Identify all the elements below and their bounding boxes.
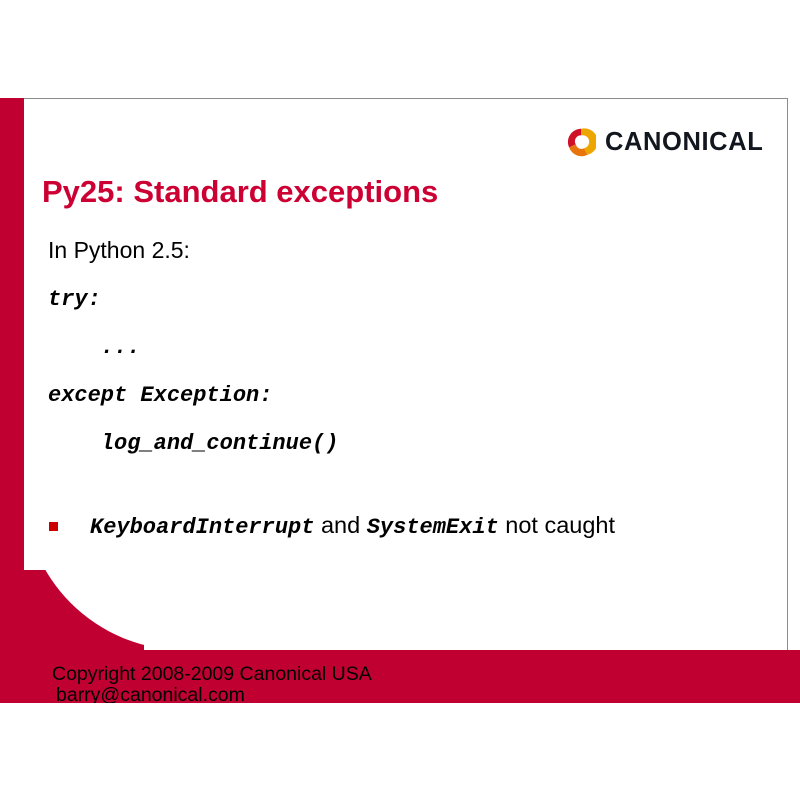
list-item: KeyboardInterrupt and SystemExit not cau… bbox=[48, 509, 748, 543]
canonical-circle-of-friends-icon bbox=[566, 127, 596, 157]
footer-copyright: Copyright 2008-2009 Canonical USA bbox=[52, 663, 372, 686]
square-bullet-icon bbox=[49, 522, 58, 531]
code-line: except Exception: bbox=[48, 385, 748, 407]
bullet-text: KeyboardInterrupt and SystemExit not cau… bbox=[90, 512, 615, 538]
bullet-part-mono: KeyboardInterrupt bbox=[90, 515, 314, 540]
bullet-part-sans: and bbox=[314, 512, 366, 538]
rounded-corner-sweep bbox=[24, 570, 144, 650]
bullet-part-sans: not caught bbox=[499, 512, 615, 538]
slide-frame: CANONICAL Py25: Standard exceptions In P… bbox=[0, 98, 800, 703]
code-line: ... bbox=[48, 337, 748, 359]
left-red-accent-bar bbox=[0, 98, 24, 650]
footer-email: barry@canonical.com bbox=[56, 684, 245, 703]
code-line: try: bbox=[48, 289, 748, 311]
footer: Copyright 2008-2009 Canonical USA barry@… bbox=[0, 650, 800, 703]
slide-title: Py25: Standard exceptions bbox=[42, 174, 438, 210]
slide-top-rule bbox=[22, 98, 788, 99]
code-block: try: ... except Exception: log_and_conti… bbox=[48, 289, 748, 455]
canonical-logo: CANONICAL bbox=[566, 125, 782, 159]
slide-body: In Python 2.5: try: ... except Exception… bbox=[48, 238, 748, 544]
code-line: log_and_continue() bbox=[48, 433, 748, 455]
slide-root: CANONICAL Py25: Standard exceptions In P… bbox=[0, 0, 800, 800]
lead-text: In Python 2.5: bbox=[48, 238, 748, 263]
bullet-part-mono: SystemExit bbox=[367, 515, 499, 540]
canonical-wordmark: CANONICAL bbox=[605, 128, 763, 157]
slide-right-rule bbox=[787, 98, 788, 650]
